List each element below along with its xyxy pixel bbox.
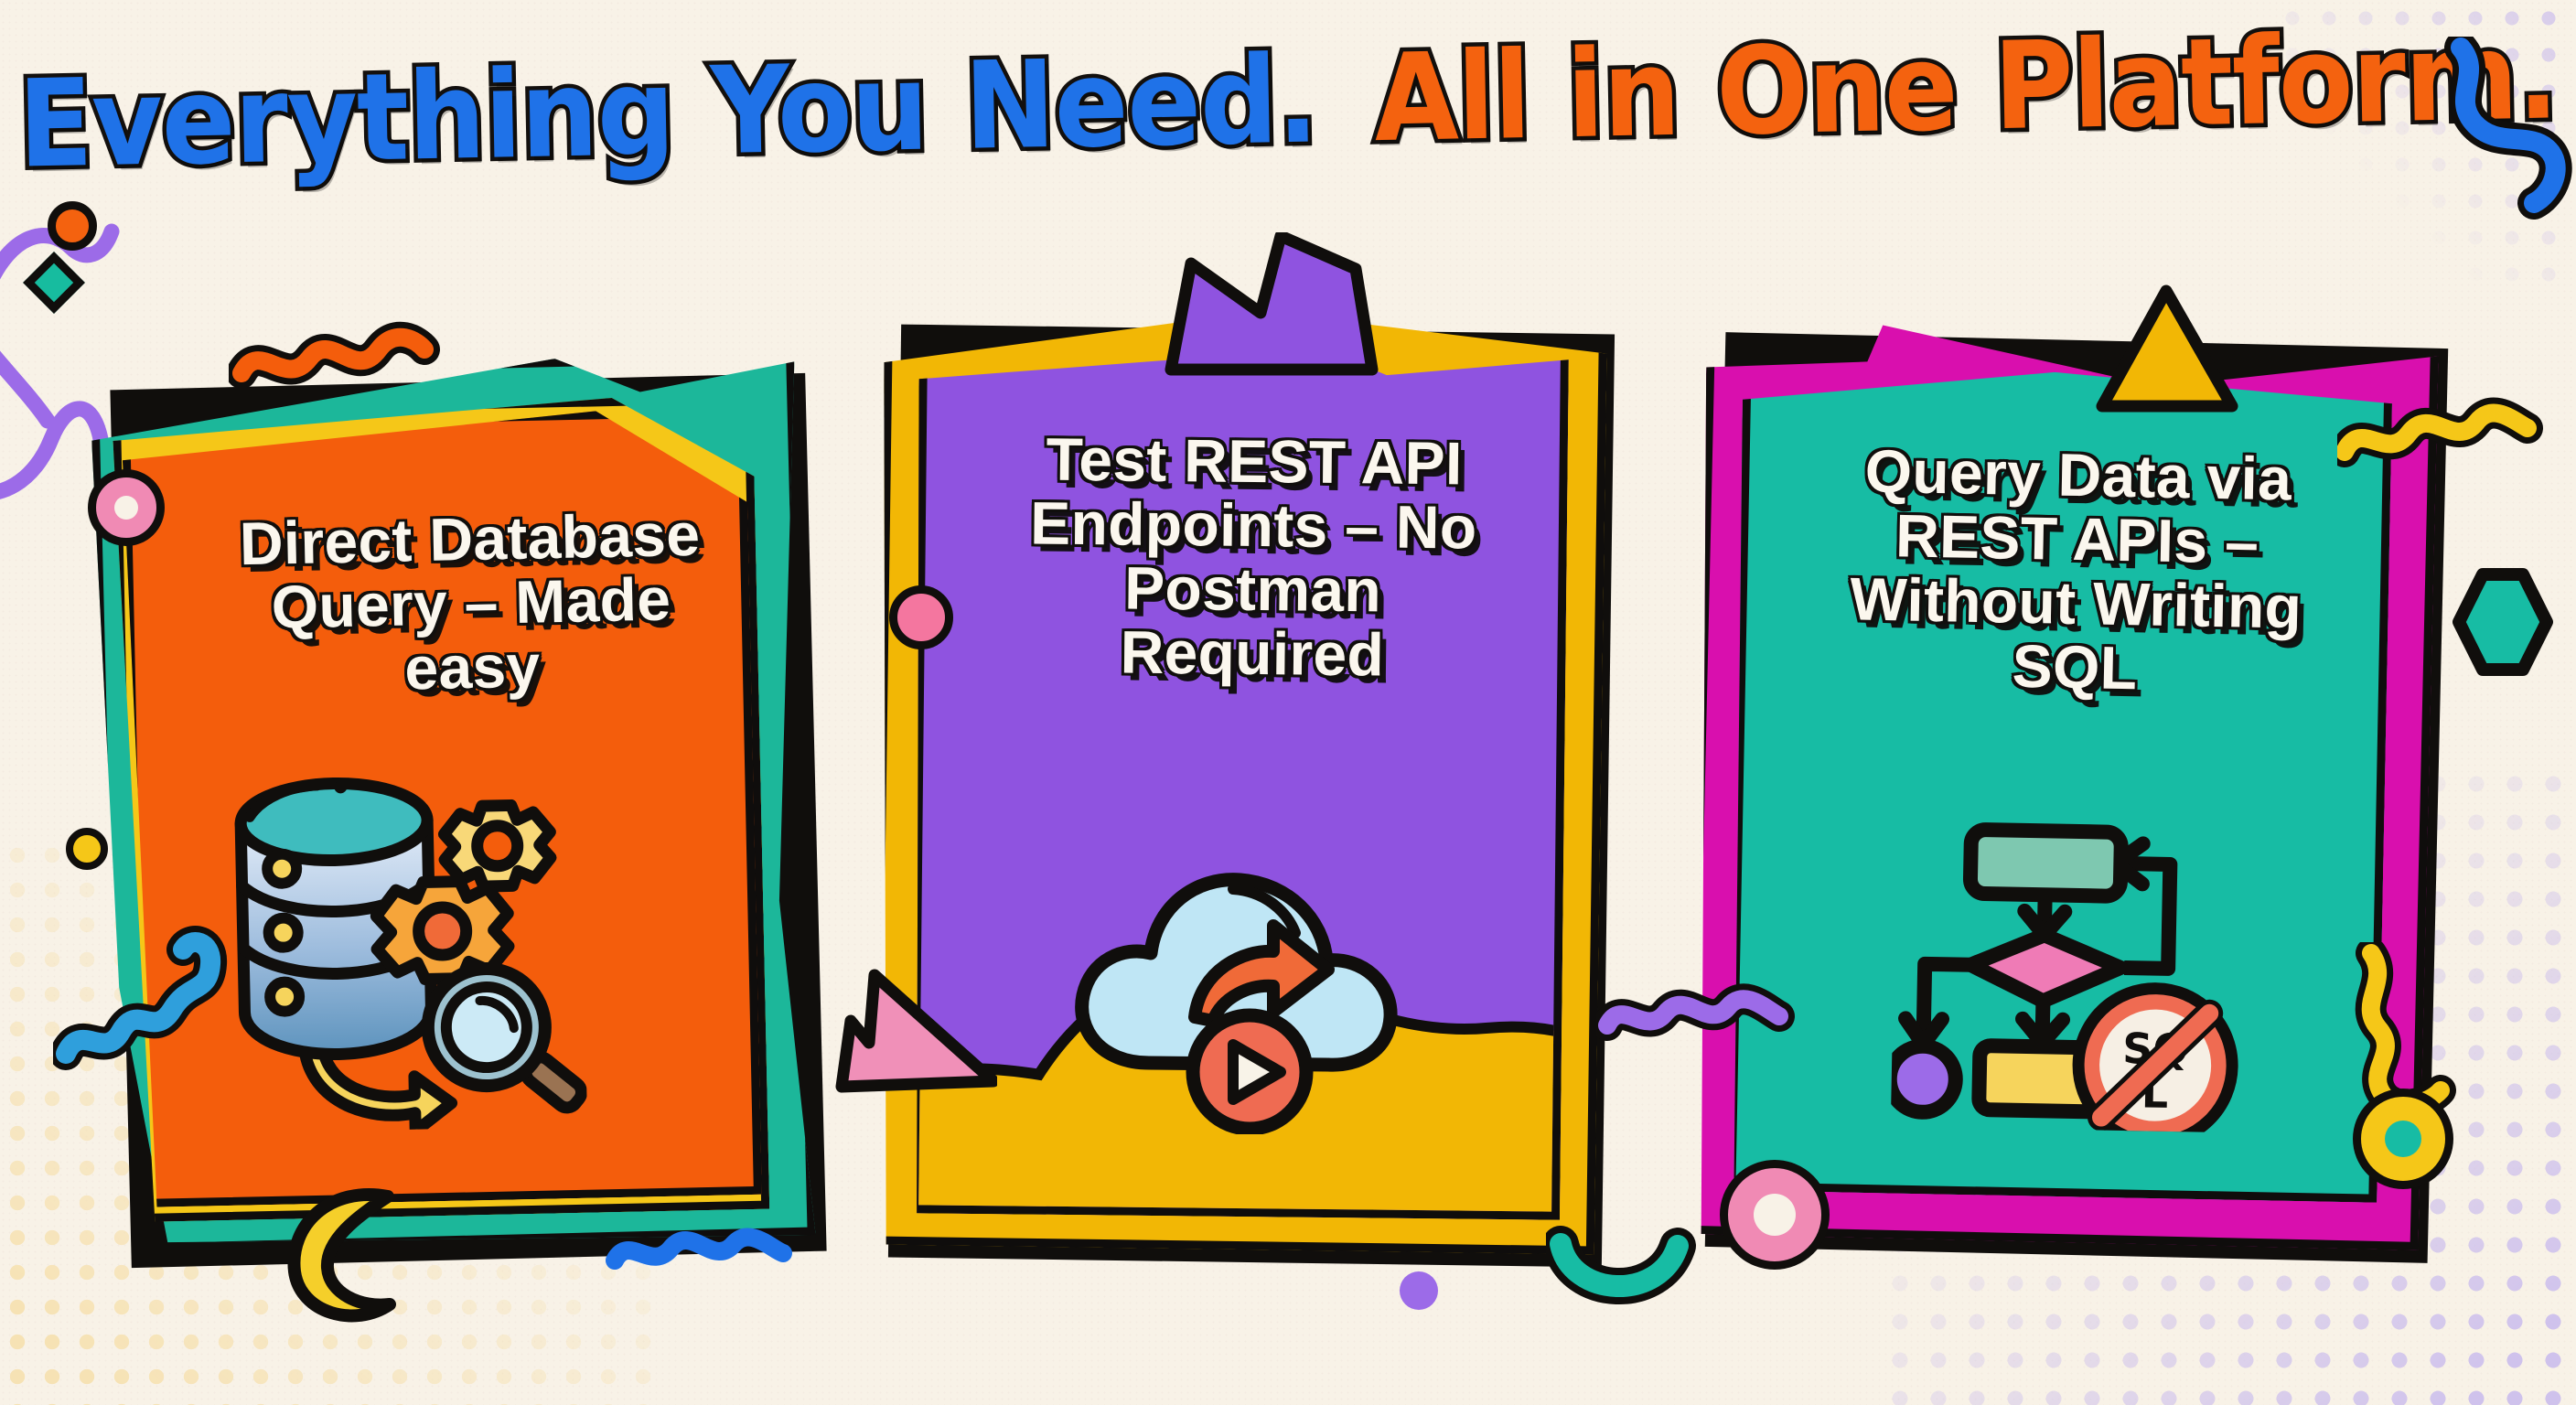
no-sql-flowchart-icon: SQ L — [1891, 815, 2262, 1133]
squiggle-purple-bottom-icon — [1596, 974, 1798, 1056]
squiggle-blue-left-icon — [53, 924, 263, 1098]
cloud-upload-play-icon — [1061, 823, 1427, 1134]
card2-title-line-4: Required — [914, 618, 1592, 690]
poster-canvas: Everything You Need. All in One Platform… — [0, 0, 2576, 1405]
hexagon-teal-right-icon — [2452, 567, 2554, 677]
arc-teal-bottom-icon — [1546, 1226, 1701, 1317]
card2-title: Test REST API Endpoints – No Postman Req… — [877, 426, 1630, 690]
squiggle-blue-top-right-icon — [2433, 37, 2576, 220]
triangle-pink-middle-icon — [814, 942, 997, 1116]
card3-title-line-4: SQL — [1731, 629, 2418, 706]
card-test-rest-api-endpoints[interactable]: Test REST API Endpoints – No Postman Req… — [878, 311, 1628, 1290]
bow-purple-card2-icon — [1143, 232, 1409, 379]
squiggle-orange-card1-icon — [229, 302, 457, 402]
circle-orange-top-left-icon — [48, 201, 97, 251]
squiggle-yellow-right-icon — [2342, 942, 2571, 1116]
card-direct-database-query[interactable]: Direct Database Query – Made easy — [101, 361, 842, 1285]
ring-pink-bottom-icon — [1720, 1160, 1830, 1270]
card2-title-line-3: Postman — [914, 554, 1592, 626]
card1-title: Direct Database Query – Made easy — [99, 500, 843, 708]
ring-yellow-right-icon — [2353, 1089, 2453, 1189]
card2-title-line-1: Test REST API — [916, 426, 1594, 498]
squiggle-blue-bottom-icon — [604, 1217, 805, 1290]
card2-title-line-2: Endpoints – No — [915, 490, 1593, 562]
dot-pink-card2-left-icon — [889, 585, 953, 649]
database-query-icon — [214, 760, 587, 1133]
page-title-part-one: Everything You Need. — [17, 29, 1319, 195]
dot-purple-bottom-icon — [1400, 1271, 1438, 1310]
crescent-yellow-bottom-left-icon — [273, 1180, 428, 1326]
squiggle-yellow-top-right-icon — [2337, 382, 2566, 483]
ring-pink-left-icon — [88, 469, 165, 546]
page-title-part-two: All in One Platform. — [1373, 5, 2559, 169]
triangle-yellow-card3-icon — [2095, 284, 2241, 421]
